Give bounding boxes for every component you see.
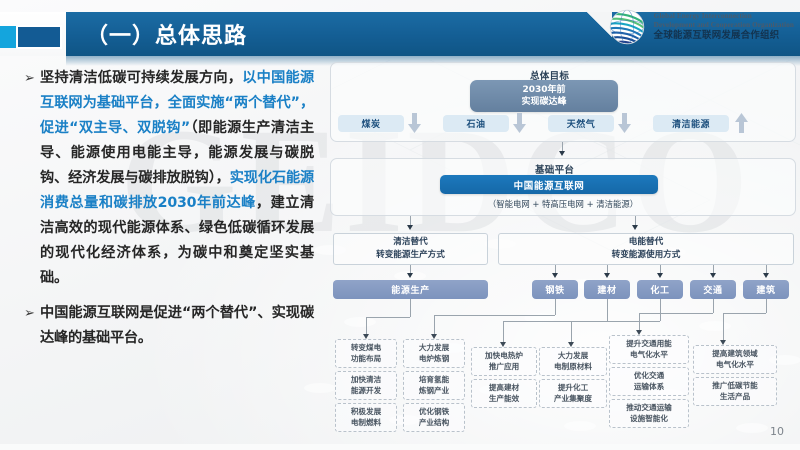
measure-box: 提高建材 生产能效 xyxy=(471,379,537,408)
globe-icon xyxy=(606,6,648,48)
logo-cn-name: 全球能源互联网发展合作组织 xyxy=(654,31,794,42)
measure-line2: 生活产品 xyxy=(720,392,750,403)
connector-materials-to-col3 xyxy=(503,321,504,344)
logo-en-line1: Global Energy Interconnection xyxy=(654,12,794,20)
goal-box: 2030年前 实现碳达峰 xyxy=(470,80,618,112)
connector-transport-horizontal xyxy=(639,313,713,314)
measure-box: 加快清洁 能源开发 xyxy=(335,371,397,400)
connector-steel-horizontal xyxy=(434,315,555,316)
measure-line2: 运输体系 xyxy=(634,382,664,393)
connector-chemical-to-col4 xyxy=(571,321,572,344)
arrow-up-icon xyxy=(735,113,748,133)
arrow-head-icon xyxy=(559,151,565,156)
measure-line1: 积极发展 xyxy=(351,407,381,418)
left-text-column: ➢ 坚持清洁低碳可持续发展方向，以中国能源互联网为基础平台，全面实施“两个替代”… xyxy=(24,66,314,361)
connector-chemical-horizontal xyxy=(571,321,660,322)
connector-energy-drop xyxy=(410,299,411,317)
organization-logo: Global Energy Interconnection Developmen… xyxy=(606,6,794,48)
measure-line1: 提高建筑领域 xyxy=(712,349,758,360)
strategy-box-electricity-substitution: 电能替代 转变能源使用方式 xyxy=(498,233,794,265)
sector-box-chemical: 化工 xyxy=(637,280,683,299)
connector-chemical-drop xyxy=(660,299,661,321)
measure-line1: 优化交通 xyxy=(634,371,664,382)
measure-box: 培育氢能 炼钢产业 xyxy=(403,371,465,400)
measure-line1: 转变煤电 xyxy=(351,343,381,354)
sector-box-building: 建筑 xyxy=(743,280,789,299)
sector-box-materials: 建材 xyxy=(584,280,630,299)
measure-line2: 电制燃料 xyxy=(351,418,381,429)
measure-box: 优化钢铁 产业结构 xyxy=(403,403,465,432)
energy-chip-clean: 清洁能源 xyxy=(653,115,729,132)
arrow-head-icon xyxy=(604,273,610,278)
measure-line1: 大力发展 xyxy=(558,351,588,362)
connector-building-horizontal xyxy=(723,313,766,314)
page-number: 10 xyxy=(770,425,784,438)
strategy-diagram: 总体目标 2030年前 实现碳达峰 煤炭 石油 天然气 清洁能源 基础平台 中国… xyxy=(330,58,796,438)
goal-box-line2: 实现碳达峰 xyxy=(521,96,566,108)
measure-line2: 电炉炼钢 xyxy=(419,354,449,365)
footer-strip xyxy=(0,444,800,450)
slide-canvas: GEIDCO （一）总体思路 xyxy=(0,0,800,450)
arrow-down-icon xyxy=(618,113,631,133)
measure-line1: 培育氢能 xyxy=(419,375,449,386)
measure-line2: 功能布局 xyxy=(351,354,381,365)
sector-box-transport: 交通 xyxy=(690,280,736,299)
arrow-down-icon xyxy=(408,113,421,133)
connector-steel-to-col2 xyxy=(434,315,435,336)
measure-line1: 大力发展 xyxy=(419,343,449,354)
measure-line2: 炼钢产业 xyxy=(419,386,449,397)
connector-transport-drop xyxy=(713,299,714,313)
arrow-head-icon xyxy=(710,273,716,278)
strategy-box-clean-substitution: 清洁替代 转变能源生产方式 xyxy=(333,233,488,265)
measure-box: 提高建筑领域 电气化水平 xyxy=(693,345,777,374)
measure-box: 积极发展 电制燃料 xyxy=(335,403,397,432)
arrow-head-icon xyxy=(763,273,769,278)
measure-line2: 产业结构 xyxy=(419,418,449,429)
measure-line2: 电气化水平 xyxy=(630,350,668,361)
sector-box-steel: 钢铁 xyxy=(532,280,578,299)
measure-line1: 加快电热炉 xyxy=(485,351,523,362)
connector-steel-drop xyxy=(555,299,556,315)
arrow-head-icon xyxy=(552,273,558,278)
measure-line2: 电气化水平 xyxy=(716,360,754,371)
bullet-marker-icon: ➢ xyxy=(24,66,40,291)
bullet-text: 坚持清洁低碳可持续发展方向，以中国能源互联网为基础平台，全面实施“两个替代”，促… xyxy=(40,66,314,291)
energy-chip-gas: 天然气 xyxy=(548,115,614,132)
bullet-marker-icon: ➢ xyxy=(24,301,40,351)
measure-line1: 推动交通运输 xyxy=(626,403,672,414)
measure-box: 转变煤电 功能布局 xyxy=(335,339,397,368)
arrow-head-icon xyxy=(407,273,413,278)
measure-box: 提升交通用能 电气化水平 xyxy=(609,335,689,364)
measure-box: 推广低碳节能 生活产品 xyxy=(693,377,777,406)
arrow-head-icon xyxy=(632,225,638,230)
measure-box: 大力发展 电炉炼钢 xyxy=(403,339,465,368)
connector-building-drop xyxy=(766,299,767,313)
arrow-head-icon xyxy=(407,225,413,230)
logo-en-line2: Development and Cooperation Organization xyxy=(654,21,794,29)
arrow-down-icon xyxy=(513,113,526,133)
measure-line2: 能源开发 xyxy=(351,386,381,397)
page-title: （一）总体思路 xyxy=(86,18,247,50)
goal-box-line1: 2030年前 xyxy=(522,84,565,96)
connector-energy-horizontal xyxy=(366,317,410,318)
connector-materials-drop xyxy=(607,299,608,321)
header-chip xyxy=(16,25,62,49)
energy-chip-coal: 煤炭 xyxy=(338,115,404,132)
measure-line2: 产业集聚度 xyxy=(554,394,592,405)
measure-box: 加快电热炉 推广应用 xyxy=(471,347,537,376)
measure-box: 推动交通运输 设施智能化 xyxy=(609,399,689,428)
measure-line2: 电制原材料 xyxy=(554,362,592,373)
measure-line2: 生产能效 xyxy=(489,394,519,405)
bullet-item: ➢ 坚持清洁低碳可持续发展方向，以中国能源互联网为基础平台，全面实施“两个替代”… xyxy=(24,66,314,291)
measure-line2: 设施智能化 xyxy=(630,414,668,425)
platform-subtitle: （智能电网 + 特高压电网 + 清洁能源） xyxy=(330,198,796,210)
measure-line1: 提升化工 xyxy=(558,383,588,394)
measure-line1: 优化钢铁 xyxy=(419,407,449,418)
measure-box: 优化交通 运输体系 xyxy=(609,367,689,396)
strategy-line1: 电能替代 xyxy=(629,236,663,249)
normal-text-run: 坚持清洁低碳可持续发展方向， xyxy=(40,70,242,86)
normal-text-run: 中国能源互联网是促进“两个替代”、实现碳达峰的基础平台。 xyxy=(40,305,314,346)
platform-box: 中国能源互联网 xyxy=(440,175,658,194)
platform-panel-label: 基础平台 xyxy=(535,162,574,176)
measure-box: 大力发展 电制原材料 xyxy=(539,347,607,376)
strategy-line2: 转变能源生产方式 xyxy=(376,249,445,262)
measure-line1: 提高建材 xyxy=(489,383,519,394)
measure-line1: 推广低碳节能 xyxy=(712,381,758,392)
connector-building-to-col6 xyxy=(723,313,724,342)
sector-box-energy-production: 能源生产 xyxy=(333,280,488,299)
measure-line1: 加快清洁 xyxy=(351,375,381,386)
strategy-line1: 清洁替代 xyxy=(393,236,427,249)
measure-line1: 提升交通用能 xyxy=(626,339,672,350)
bullet-item: ➢ 中国能源互联网是促进“两个替代”、实现碳达峰的基础平台。 xyxy=(24,301,314,351)
arrow-head-icon xyxy=(657,273,663,278)
energy-chip-oil: 石油 xyxy=(443,115,509,132)
measure-box: 提升化工 产业集聚度 xyxy=(539,379,607,408)
strategy-line2: 转变能源使用方式 xyxy=(612,249,681,262)
measure-line2: 推广应用 xyxy=(489,362,519,373)
bullet-text: 中国能源互联网是促进“两个替代”、实现碳达峰的基础平台。 xyxy=(40,301,314,351)
